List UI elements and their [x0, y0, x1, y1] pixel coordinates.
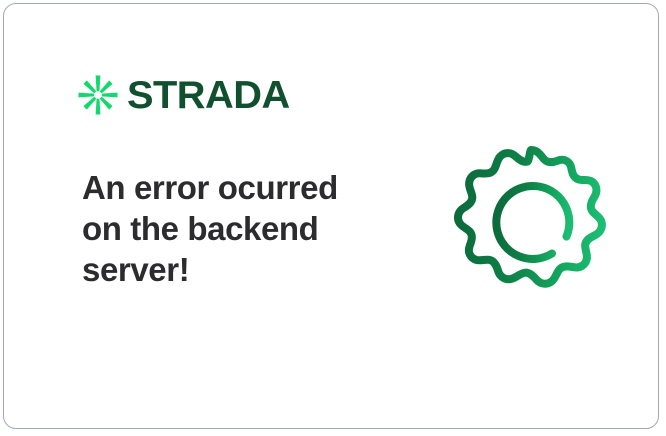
gear-cog-icon — [448, 142, 614, 308]
brand-lockup: STRADA — [78, 72, 287, 118]
strada-asterisk-logo-icon — [78, 75, 118, 115]
error-card: STRADA An error ocurred on the backend s… — [3, 3, 659, 429]
brand-wordmark: STRADA — [127, 76, 290, 115]
error-headline: An error ocurred on the backend server! — [82, 167, 382, 290]
